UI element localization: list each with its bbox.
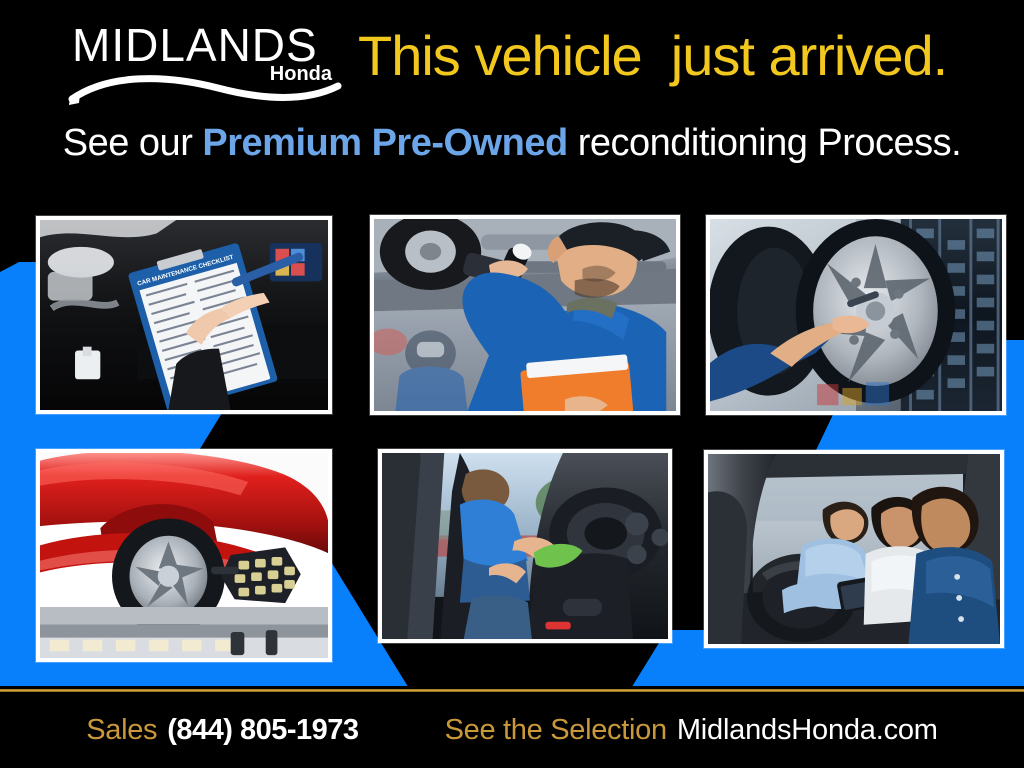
footer: Sales (844) 805-1973 See the Selection M… [0, 692, 1024, 768]
gallery-photo-wheel-tire-inspection[interactable] [706, 215, 1006, 415]
footer-website-link[interactable]: MidlandsHonda.com [677, 714, 938, 747]
photo-grid: CAR MAINTENANCE CHECKLIST [0, 0, 1024, 768]
gallery-photo-interior-detailing[interactable] [378, 449, 672, 643]
gallery-photo-customer-delivery[interactable] [704, 450, 1004, 648]
customer-delivery-artwork [708, 454, 1000, 644]
inspection-checklist-artwork: CAR MAINTENANCE CHECKLIST [40, 220, 328, 410]
gallery-photo-undercarriage-inspection[interactable] [370, 215, 680, 415]
footer-selection-group: See the Selection MidlandsHonda.com [445, 714, 938, 747]
footer-phone-number[interactable]: (844) 805-1973 [167, 714, 358, 747]
undercarriage-inspection-artwork [374, 219, 676, 411]
footer-sales-label: Sales [86, 714, 157, 747]
promotional-banner: MIDLANDS Honda This vehicle just arrived… [0, 0, 1024, 768]
interior-detailing-artwork [382, 453, 668, 639]
footer-sales-group: Sales (844) 805-1973 [86, 714, 358, 747]
wheel-tire-inspection-artwork [710, 219, 1002, 411]
gallery-photo-inspection-checklist[interactable]: CAR MAINTENANCE CHECKLIST [36, 216, 332, 414]
alignment-check-artwork [40, 453, 328, 658]
footer-selection-label: See the Selection [445, 714, 667, 747]
gallery-photo-alignment-check[interactable] [36, 449, 332, 662]
